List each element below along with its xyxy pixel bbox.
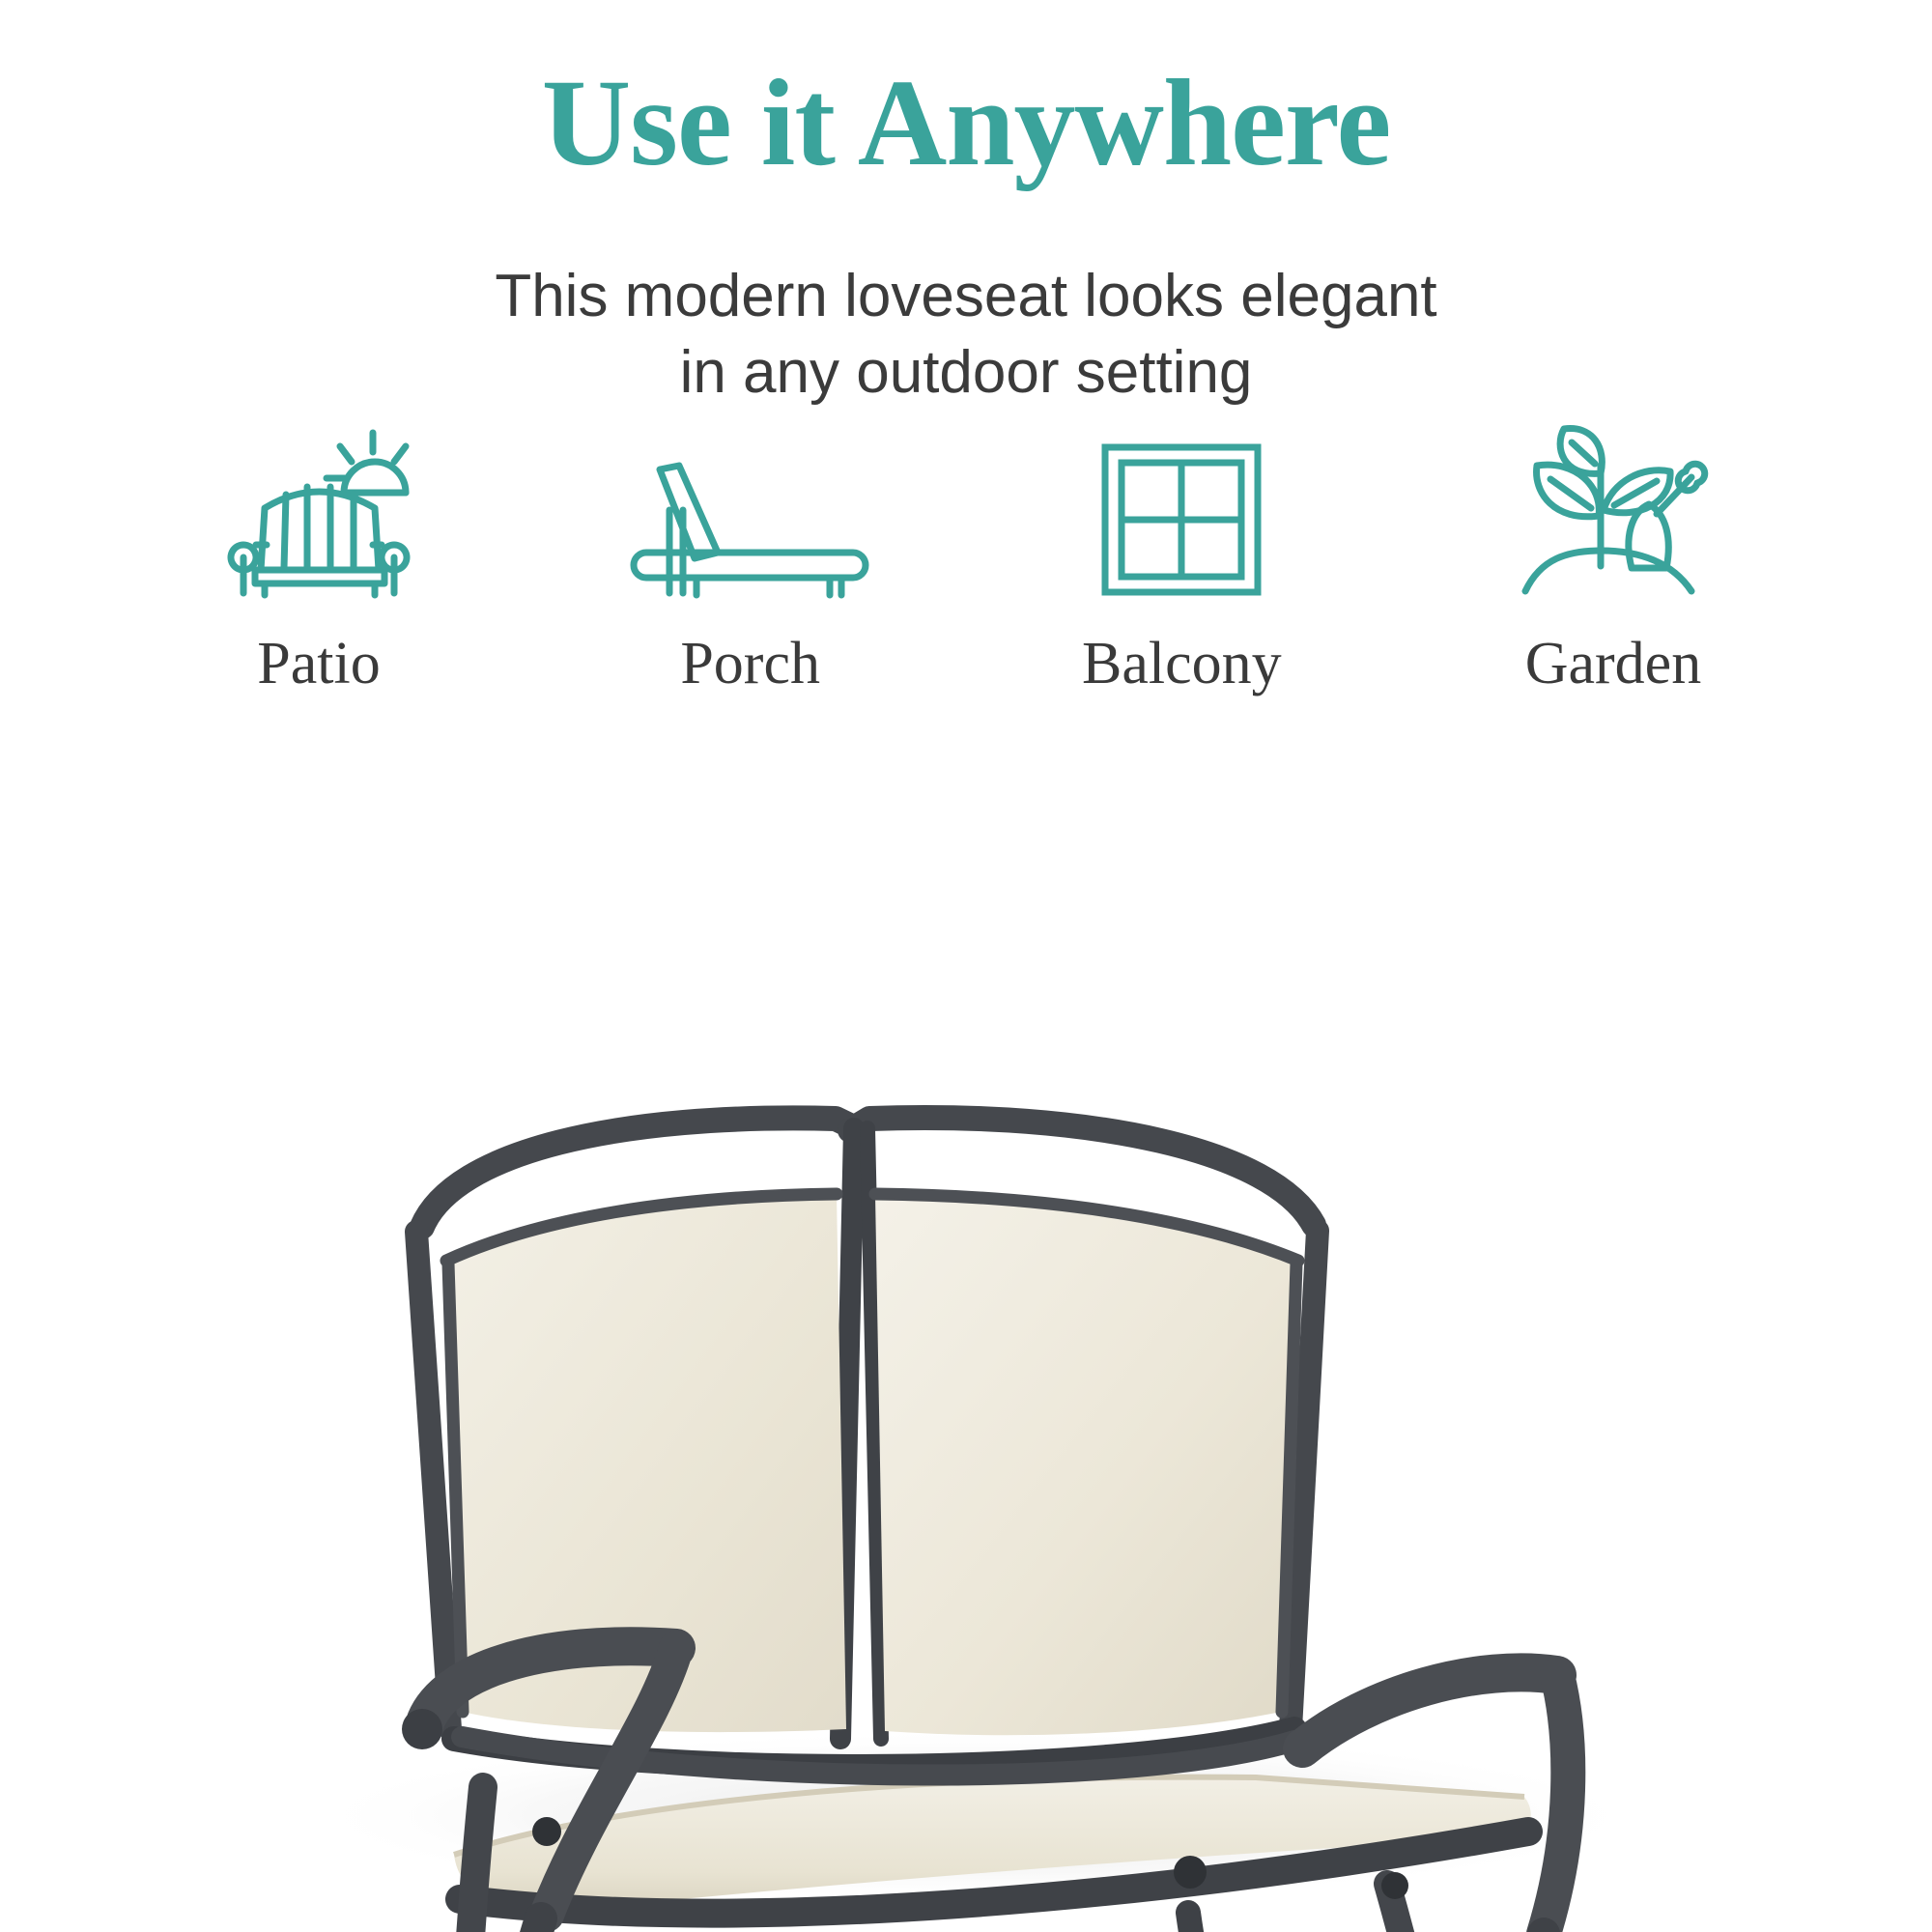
- marketing-image-canvas: Use it Anywhere This modern loveseat loo…: [0, 0, 1932, 1932]
- backrest-sling-right: [875, 1194, 1298, 1735]
- feature-label-patio: Patio: [257, 634, 380, 694]
- feature-item-balcony: Balcony: [979, 404, 1384, 694]
- feature-label-garden: Garden: [1525, 634, 1701, 694]
- feature-item-garden: Garden: [1410, 404, 1816, 694]
- icon-wrap-balcony: [1075, 404, 1288, 597]
- subtitle: This modern loveseat looks elegant in an…: [0, 259, 1932, 411]
- icon-wrap-patio: [213, 404, 425, 597]
- icon-wrap-porch: [644, 404, 857, 597]
- product-photo: [0, 763, 1932, 1932]
- icon-wrap-garden: [1507, 404, 1719, 597]
- subtitle-line-1: This modern loveseat looks elegant: [0, 259, 1932, 335]
- subtitle-line-2: in any outdoor setting: [0, 335, 1932, 412]
- plant-with-trowel-icon: [1512, 413, 1715, 597]
- page-title: Use it Anywhere: [0, 56, 1932, 189]
- feature-item-patio: Patio: [116, 404, 522, 694]
- adirondack-chair-with-sun-icon: [222, 423, 415, 597]
- chaise-lounge-icon: [625, 452, 876, 597]
- outdoor-glider-loveseat-illustration: [0, 763, 1932, 1932]
- window-four-pane-icon: [1100, 442, 1263, 597]
- feature-row: Patio Porch: [116, 404, 1816, 752]
- feature-label-porch: Porch: [680, 634, 820, 694]
- feature-label-balcony: Balcony: [1082, 634, 1282, 694]
- feature-item-porch: Porch: [548, 404, 953, 694]
